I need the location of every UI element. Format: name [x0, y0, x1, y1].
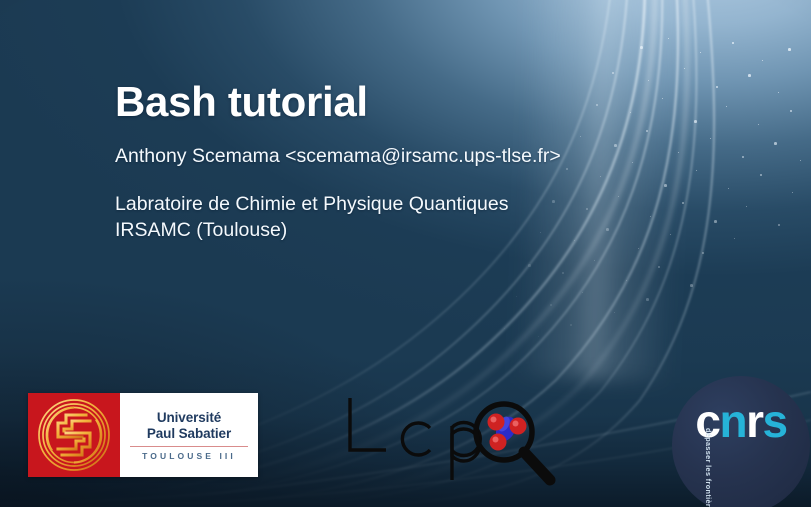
logo-universite-paul-sabatier: Université Paul Sabatier TOULOUSE III	[28, 393, 258, 477]
ups-emblem-panel	[28, 393, 120, 477]
molecule-icon	[488, 413, 527, 450]
slide-text-block: Bash tutorial Anthony Scemama <scemama@i…	[115, 78, 735, 243]
cnrs-tagline: dépasser les frontières	[704, 428, 713, 507]
cnrs-letter-s: s	[763, 395, 787, 447]
ups-text-panel: Université Paul Sabatier TOULOUSE III	[120, 393, 258, 477]
presentation-slide: Bash tutorial Anthony Scemama <scemama@i…	[0, 0, 811, 507]
slide-title: Bash tutorial	[115, 78, 735, 125]
ups-s-labyrinth-emblem-icon	[28, 393, 120, 477]
cnrs-letter-r: r	[746, 395, 762, 447]
slide-author: Anthony Scemama <scemama@irsamc.ups-tlse…	[115, 144, 735, 168]
affiliation-line-2: IRSAMC (Toulouse)	[115, 219, 287, 241]
ups-name: Université Paul Sabatier	[147, 410, 231, 442]
lcpq-mark	[338, 388, 563, 488]
ups-subtitle: TOULOUSE III	[142, 451, 236, 461]
cnrs-wordmark: cnrs	[672, 398, 810, 444]
ups-name-line-2: Paul Sabatier	[147, 426, 231, 441]
ups-name-line-1: Université	[157, 410, 221, 425]
logo-cnrs: cnrs dépasser les frontières	[672, 376, 810, 507]
magnifier-handle-icon	[524, 452, 550, 480]
cnrs-letter-n: n	[719, 395, 746, 447]
ups-divider	[130, 446, 249, 447]
logo-lcpq	[338, 388, 563, 488]
slide-affiliation: Labratoire de Chimie et Physique Quantiq…	[115, 192, 735, 243]
affiliation-line-1: Labratoire de Chimie et Physique Quantiq…	[115, 193, 509, 215]
